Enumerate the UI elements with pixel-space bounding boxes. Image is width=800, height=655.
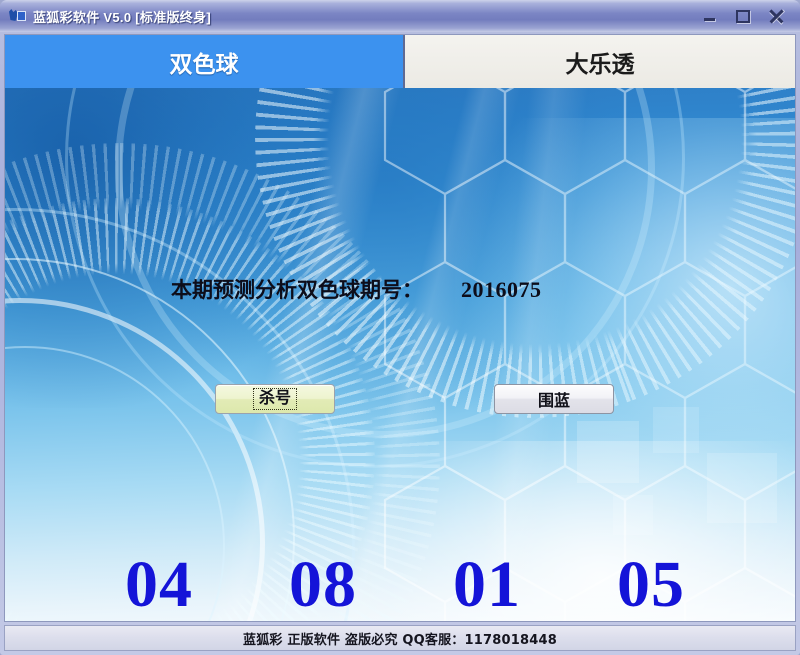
application-window: 蓝狐彩软件 V5.0 [标准版终身] 双色球 大乐透 [0,0,800,655]
maximize-icon[interactable] [733,6,753,26]
decor-ray-fan-center [255,88,796,418]
status-bar-text: 蓝狐彩 正版软件 盗版必究 QQ客服：1178018448 [243,629,557,648]
tab-shuangseqiu[interactable]: 双色球 [5,35,405,88]
period-value: 2016075 [461,277,542,303]
predicted-number: 01 [453,552,521,618]
minimize-icon[interactable] [700,6,720,26]
background-glow-right [455,118,796,538]
predicted-number: 08 [289,552,357,618]
content-panel: 本期预测分析双色球期号： 2016075 杀号 围蓝 04 08 01 05 [4,88,796,622]
surround-blue-button[interactable]: 围蓝 [494,384,614,414]
predicted-numbers-row: 04 08 01 05 [5,552,795,618]
background-wash-mid [125,88,645,428]
decor-blocks [567,401,787,551]
decor-hexagon-mesh [375,88,795,622]
kill-number-button-label: 杀号 [253,388,297,410]
title-bar: 蓝狐彩软件 V5.0 [标准版终身] [0,0,800,32]
app-fox-icon [8,7,26,25]
kill-number-button[interactable]: 杀号 [215,384,335,414]
surround-blue-button-label: 围蓝 [538,387,570,411]
tab-strip: 双色球 大乐透 [4,34,796,88]
window-controls [700,6,794,26]
period-label: 本期预测分析双色球期号： [171,274,423,304]
period-row: 本期预测分析双色球期号： 2016075 [171,274,542,304]
tab-daletou[interactable]: 大乐透 [405,35,795,88]
predicted-number: 05 [617,552,685,618]
decor-light-streaks [5,88,795,621]
close-icon[interactable] [766,6,786,26]
predicted-number: 04 [125,552,193,618]
decor-ray-fan-left-outer [4,143,440,622]
status-bar: 蓝狐彩 正版软件 盗版必究 QQ客服：1178018448 [4,625,796,651]
background-wash-left [4,88,365,408]
window-title: 蓝狐彩软件 V5.0 [标准版终身] [33,7,211,26]
